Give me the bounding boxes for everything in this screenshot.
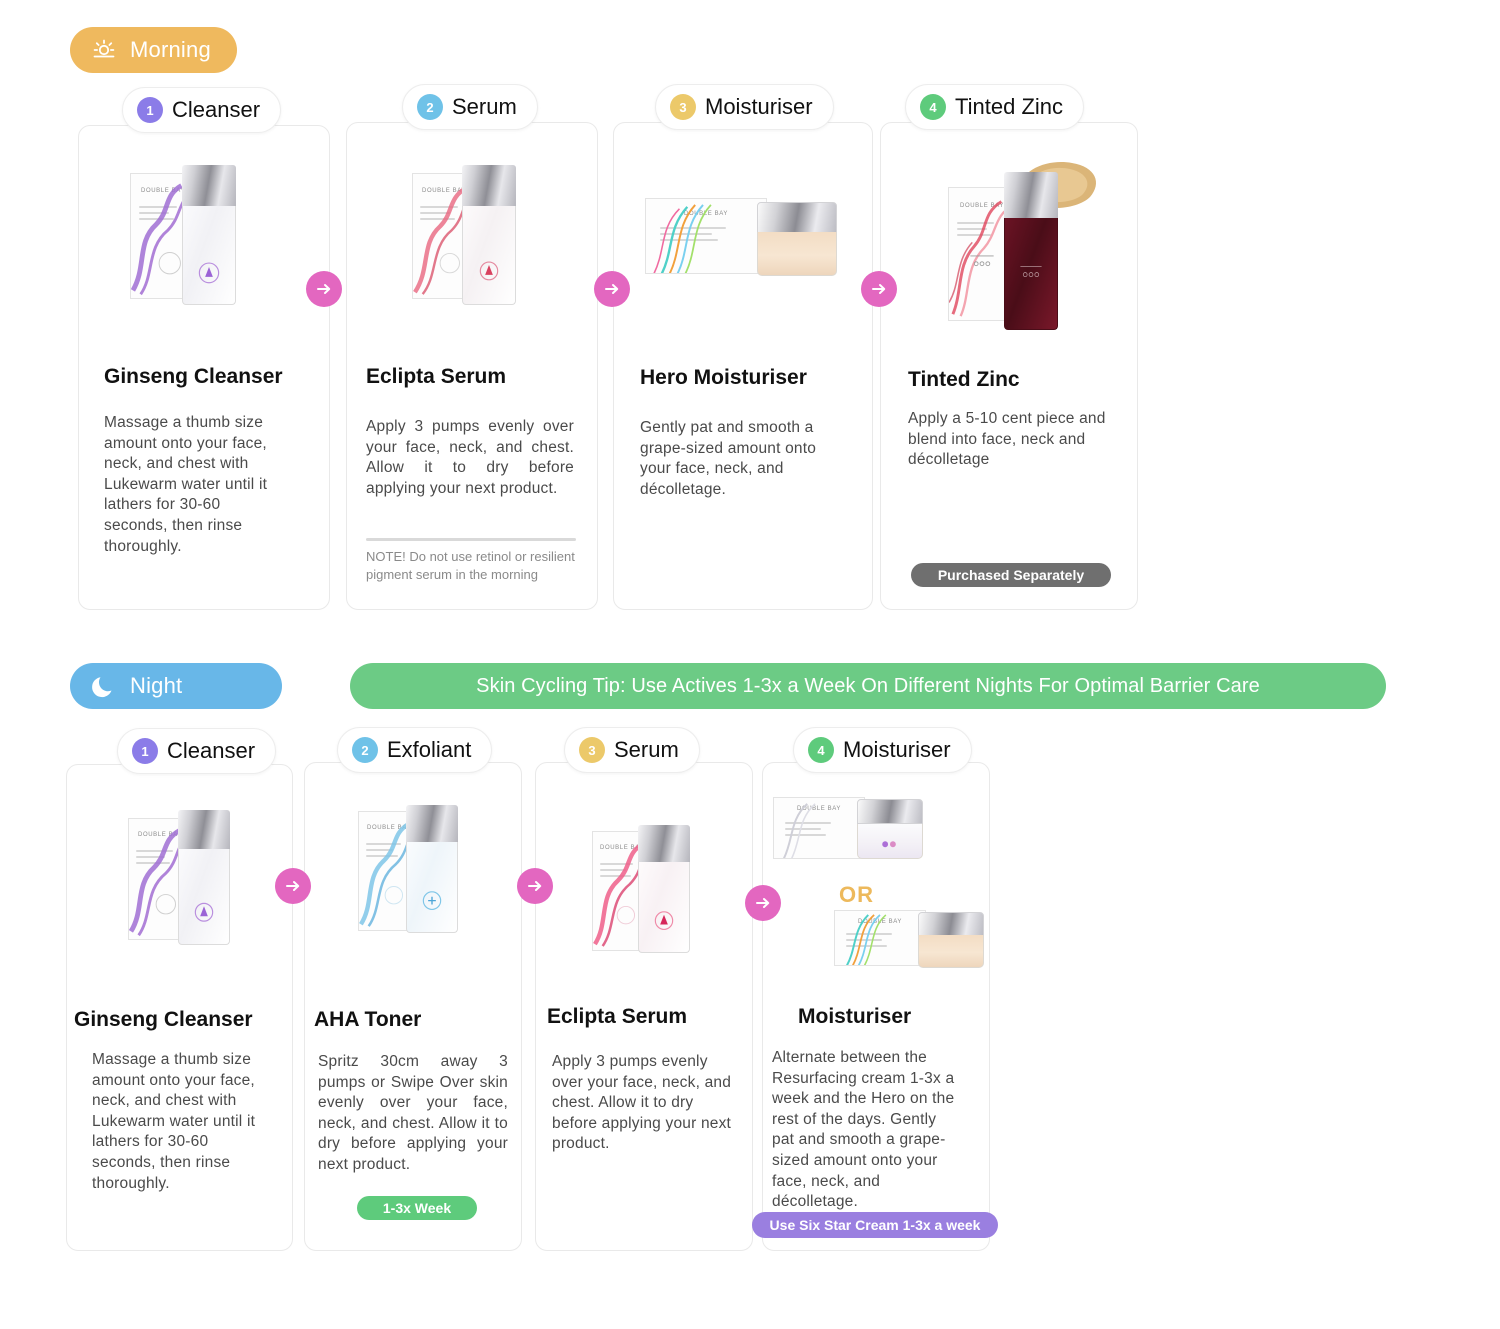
morning-step-label-3[interactable]: 3 Moisturiser <box>655 84 834 130</box>
product-image-eclipta-serum: DOUBLE BAY <box>412 165 524 305</box>
night-product-desc-3: Apply 3 pumps evenly over your face, nec… <box>552 1052 732 1155</box>
arrow-right-icon-m1 <box>306 271 342 307</box>
morning-step-label-2[interactable]: 2 Serum <box>402 84 538 130</box>
routine-infographic: Morning 1 Cleanser DOUBLE BAY <box>0 0 1500 1329</box>
arrow-right-icon-n3 <box>745 885 781 921</box>
night-product-title-1: Ginseng Cleanser <box>74 1008 253 1032</box>
morning-pill-label: Morning <box>130 37 211 63</box>
morning-note-2: NOTE! Do not use retinol or resilient pi… <box>366 538 576 585</box>
night-product-desc-4: Alternate between the Resurfacing cream … <box>772 1048 962 1213</box>
step-number-badge: 3 <box>670 94 696 120</box>
skin-cycling-tip-banner: Skin Cycling Tip: Use Actives 1-3x a Wee… <box>350 663 1386 709</box>
box-artwork-swirl <box>835 911 925 966</box>
step-label-text: Moisturiser <box>705 94 813 120</box>
sun-icon <box>90 36 118 64</box>
arrow-right-icon-n2 <box>517 868 553 904</box>
step-number-badge: 1 <box>132 738 158 764</box>
morning-product-title-2: Eclipta Serum <box>366 365 506 389</box>
product-image-ginseng-cleanser-night: DOUBLE BAY <box>128 810 238 945</box>
morning-product-title-3: Hero Moisturiser <box>640 366 807 390</box>
morning-product-desc-3: Gently pat and smooth a grape-sized amou… <box>640 418 845 500</box>
step-label-text: Exfoliant <box>387 737 471 763</box>
night-step-label-3[interactable]: 3 Serum <box>564 727 700 773</box>
night-product-title-2: AHA Toner <box>314 1008 421 1032</box>
box-artwork-swirl <box>646 199 766 274</box>
note-divider <box>366 538 576 541</box>
arrow-right-icon-m3 <box>861 271 897 307</box>
step-label-text: Tinted Zinc <box>955 94 1063 120</box>
morning-product-desc-4: Apply a 5-10 cent piece and blend into f… <box>908 409 1108 471</box>
morning-product-desc-1: Massage a thumb size amount onto your fa… <box>104 413 270 557</box>
step-number-badge: 2 <box>417 94 443 120</box>
product-image-eclipta-serum-night: DOUBLE BAY <box>592 825 698 953</box>
step-label-text: Cleanser <box>167 738 255 764</box>
night-tag-six-star-cream: Use Six Star Cream 1-3x a week <box>752 1212 998 1238</box>
step-label-text: Moisturiser <box>843 737 951 763</box>
step-label-text: Serum <box>614 737 679 763</box>
step-number-badge: 4 <box>920 94 946 120</box>
moisturiser-or-label: OR <box>839 882 874 908</box>
morning-step-label-4[interactable]: 4 Tinted Zinc <box>905 84 1084 130</box>
box-artwork-swirl <box>774 798 864 859</box>
morning-product-title-4: Tinted Zinc <box>908 368 1020 392</box>
product-image-aha-toner: DOUBLE BAY <box>358 805 466 933</box>
night-step-label-2[interactable]: 2 Exfoliant <box>337 727 492 773</box>
night-step-label-1[interactable]: 1 Cleanser <box>117 728 276 774</box>
night-tag-frequency-exfoliant: 1-3x Week <box>357 1196 477 1220</box>
morning-tag-purchased-separately: Purchased Separately <box>911 563 1111 587</box>
product-image-hero-moisturiser: DOUBLE BAY <box>645 196 835 286</box>
arrow-right-icon-n1 <box>275 868 311 904</box>
moon-icon <box>90 672 118 700</box>
product-image-six-star-peel-cream: DOUBLE BAY <box>773 795 918 865</box>
night-product-desc-2: Spritz 30cm away 3 pumps or Swipe Over s… <box>318 1052 508 1176</box>
step-number-badge: 1 <box>137 97 163 123</box>
morning-product-desc-2: Apply 3 pumps evenly over your face, nec… <box>366 417 574 499</box>
night-product-desc-1: Massage a thumb size amount onto your fa… <box>92 1050 258 1194</box>
step-number-badge: 4 <box>808 737 834 763</box>
step-label-text: Serum <box>452 94 517 120</box>
product-image-ginseng-cleanser: DOUBLE BAY <box>130 165 245 305</box>
note-text: NOTE! Do not use retinol or resilient pi… <box>366 548 576 585</box>
arrow-right-icon-m2 <box>594 271 630 307</box>
tip-text: Skin Cycling Tip: Use Actives 1-3x a Wee… <box>476 675 1260 698</box>
night-pill-label: Night <box>130 673 182 699</box>
night-product-title-4: Moisturiser <box>798 1005 911 1029</box>
night-product-title-3: Eclipta Serum <box>547 1005 687 1029</box>
step-number-badge: 2 <box>352 737 378 763</box>
product-image-hero-moisturiser-night: DOUBLE BAY <box>834 908 974 970</box>
morning-section-pill: Morning <box>70 27 237 73</box>
night-step-label-4[interactable]: 4 Moisturiser <box>793 727 972 773</box>
morning-product-title-1: Ginseng Cleanser <box>104 365 283 389</box>
night-section-pill: Night <box>70 663 282 709</box>
step-number-badge: 3 <box>579 737 605 763</box>
step-label-text: Cleanser <box>172 97 260 123</box>
product-image-tinted-zinc: DOUBLE BAY <box>948 155 1108 330</box>
morning-step-label-1[interactable]: 1 Cleanser <box>122 87 281 133</box>
